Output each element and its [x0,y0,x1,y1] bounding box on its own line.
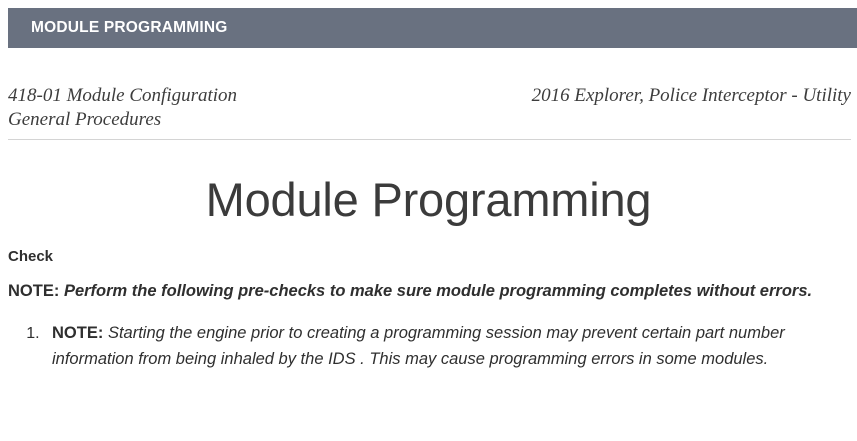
document-body: Check NOTE: Perform the following pre-ch… [8,248,851,372]
section-identifier-line1: 418-01 Module Configuration [8,84,237,108]
page-title: Module Programming [0,172,857,227]
section-identifier-line2: General Procedures [8,108,237,132]
module-programming-banner: MODULE PROGRAMMING [8,8,857,48]
check-heading: Check [8,248,851,265]
banner-title: MODULE PROGRAMMING [8,19,227,37]
note-label: NOTE: [8,282,59,300]
document-header-meta: 418-01 Module Configuration General Proc… [8,84,851,140]
list-item: NOTE: Starting the engine prior to creat… [44,320,851,372]
note-paragraph: NOTE: Perform the following pre-checks t… [8,279,851,304]
procedure-step-list: NOTE: Starting the engine prior to creat… [8,320,851,372]
document-page: MODULE PROGRAMMING 418-01 Module Configu… [0,0,857,441]
note-body: Perform the following pre-checks to make… [64,282,812,300]
step-content: NOTE: Starting the engine prior to creat… [52,324,785,368]
vehicle-identifier: 2016 Explorer, Police Interceptor - Util… [532,84,851,108]
step-note-text: Starting the engine prior to creating a … [52,324,785,368]
step-note-label: NOTE: [52,324,103,342]
header-divider [8,139,851,140]
section-identifier: 418-01 Module Configuration General Proc… [8,84,237,132]
